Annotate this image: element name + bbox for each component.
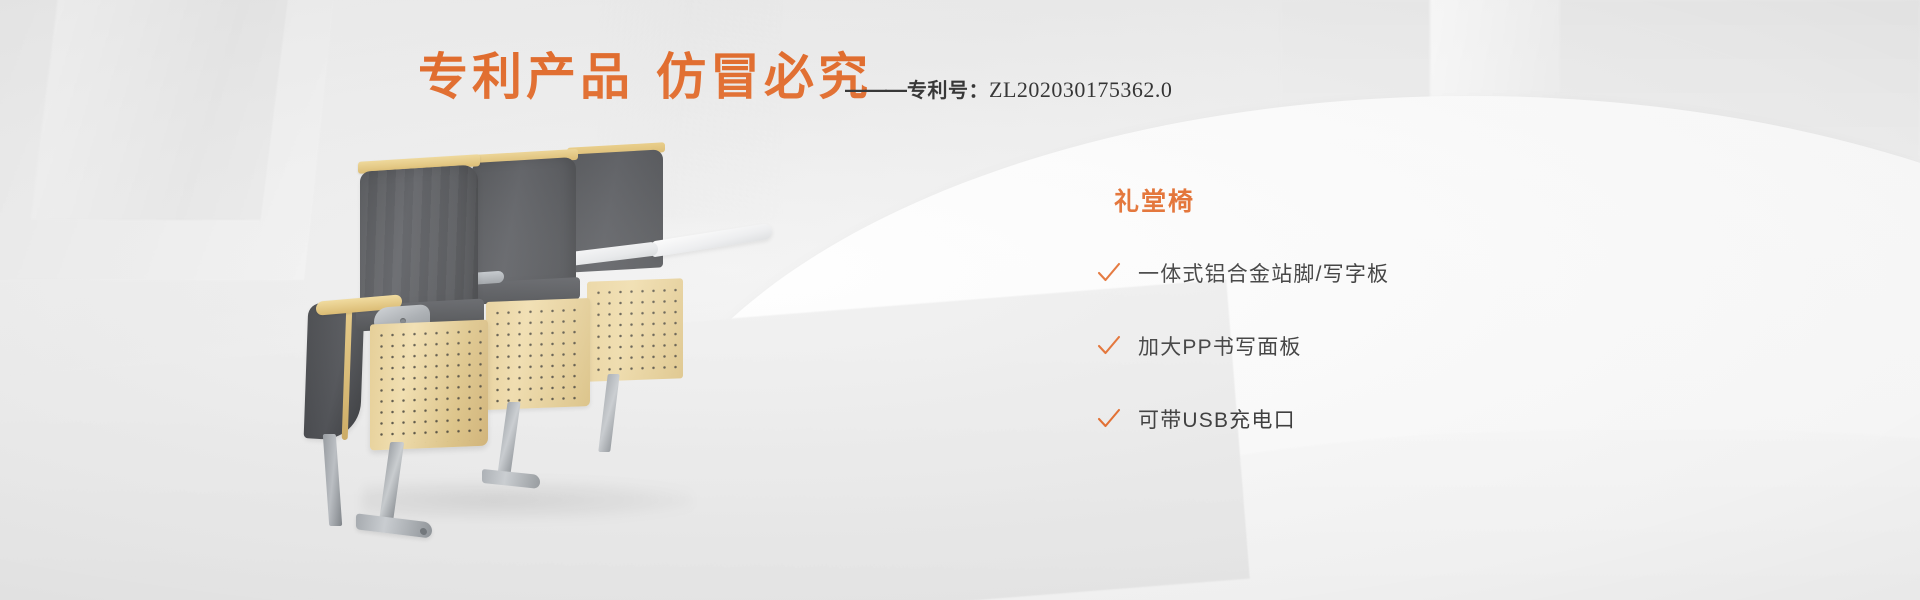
chair-front-foot-bolt [420, 528, 427, 536]
feature-label: 可带USB充电口 [1138, 404, 1296, 434]
feature-label: 加大PP书写面板 [1138, 331, 1302, 361]
patent-number-line: ———专利号：ZL202030175362.0 [845, 74, 1172, 103]
product-feature-block: 礼堂椅 一体式铝合金站脚/写字板 加大PP书写面板 可带USB充电口 [1096, 182, 1616, 477]
chair-middle-perforated-panel [486, 298, 590, 410]
product-banner: 专利产品仿冒必究 ———专利号：ZL202030175362.0 礼堂椅 一体式… [0, 0, 1920, 600]
headline-part-two: 仿冒必究 [656, 49, 872, 105]
chair-back-leg [598, 374, 620, 452]
check-icon [1096, 260, 1122, 286]
patent-number-value: ZL202030175362.0 [989, 77, 1172, 102]
chair-middle-backrest [472, 157, 576, 289]
patent-dash-prefix: ——— [845, 77, 905, 102]
headline-part-one: 专利产品 [418, 49, 634, 105]
writing-tablet-right [652, 223, 772, 258]
perforation-pattern [376, 326, 482, 444]
patent-label: 专利号： [907, 80, 989, 102]
chair-front-backrest [360, 164, 478, 313]
product-image-chairs [352, 140, 772, 490]
feature-label: 一体式铝合金站脚/写字板 [1138, 258, 1389, 288]
product-name-title: 礼堂椅 [1114, 182, 1616, 218]
perforation-pattern [593, 285, 677, 376]
background-panel-left-inner [31, 0, 292, 220]
chair-front-perforated-panel [370, 320, 488, 451]
banner-headline: 专利产品仿冒必究 [418, 52, 872, 102]
feature-list: 一体式铝合金站脚/写字板 加大PP书写面板 可带USB充电口 [1096, 258, 1616, 434]
check-icon [1096, 406, 1122, 432]
check-icon [1096, 333, 1122, 359]
perforation-pattern [492, 304, 584, 404]
chair-back-perforated-panel [587, 278, 683, 381]
feature-item-3: 可带USB充电口 [1096, 404, 1616, 434]
feature-item-2: 加大PP书写面板 [1096, 331, 1616, 361]
feature-item-1: 一体式铝合金站脚/写字板 [1096, 258, 1616, 288]
